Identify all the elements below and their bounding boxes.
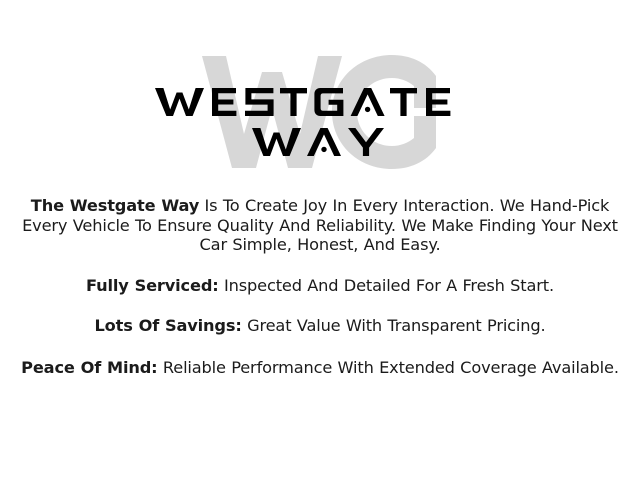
feature-label-peace-of-mind: Peace Of Mind: bbox=[21, 358, 157, 377]
brand-wordmark-line-way bbox=[0, 124, 640, 160]
feature-label-lots-of-savings: Lots Of Savings: bbox=[94, 316, 241, 335]
brand-wordmark-line-westgate bbox=[0, 84, 640, 120]
feature-peace-of-mind: Peace Of Mind: Reliable Performance With… bbox=[0, 358, 640, 378]
feature-lots-of-savings: Lots Of Savings: Great Value With Transp… bbox=[0, 316, 640, 336]
promo-copy: The Westgate Way Is To Create Joy In Eve… bbox=[0, 196, 640, 378]
westgate-way-promo-card: The Westgate Way Is To Create Joy In Eve… bbox=[0, 0, 640, 480]
intro-paragraph: The Westgate Way Is To Create Joy In Eve… bbox=[0, 196, 640, 255]
brand-wordmark bbox=[0, 46, 640, 176]
brand-logo bbox=[0, 46, 640, 176]
feature-description-lots-of-savings: Great Value With Transparent Pricing. bbox=[242, 316, 546, 335]
feature-description-fully-serviced: Inspected And Detailed For A Fresh Start… bbox=[219, 276, 554, 295]
intro-lead: The Westgate Way bbox=[31, 196, 199, 215]
feature-description-peace-of-mind: Reliable Performance With Extended Cover… bbox=[158, 358, 619, 377]
feature-fully-serviced: Fully Serviced: Inspected And Detailed F… bbox=[0, 276, 640, 296]
feature-label-fully-serviced: Fully Serviced: bbox=[86, 276, 219, 295]
